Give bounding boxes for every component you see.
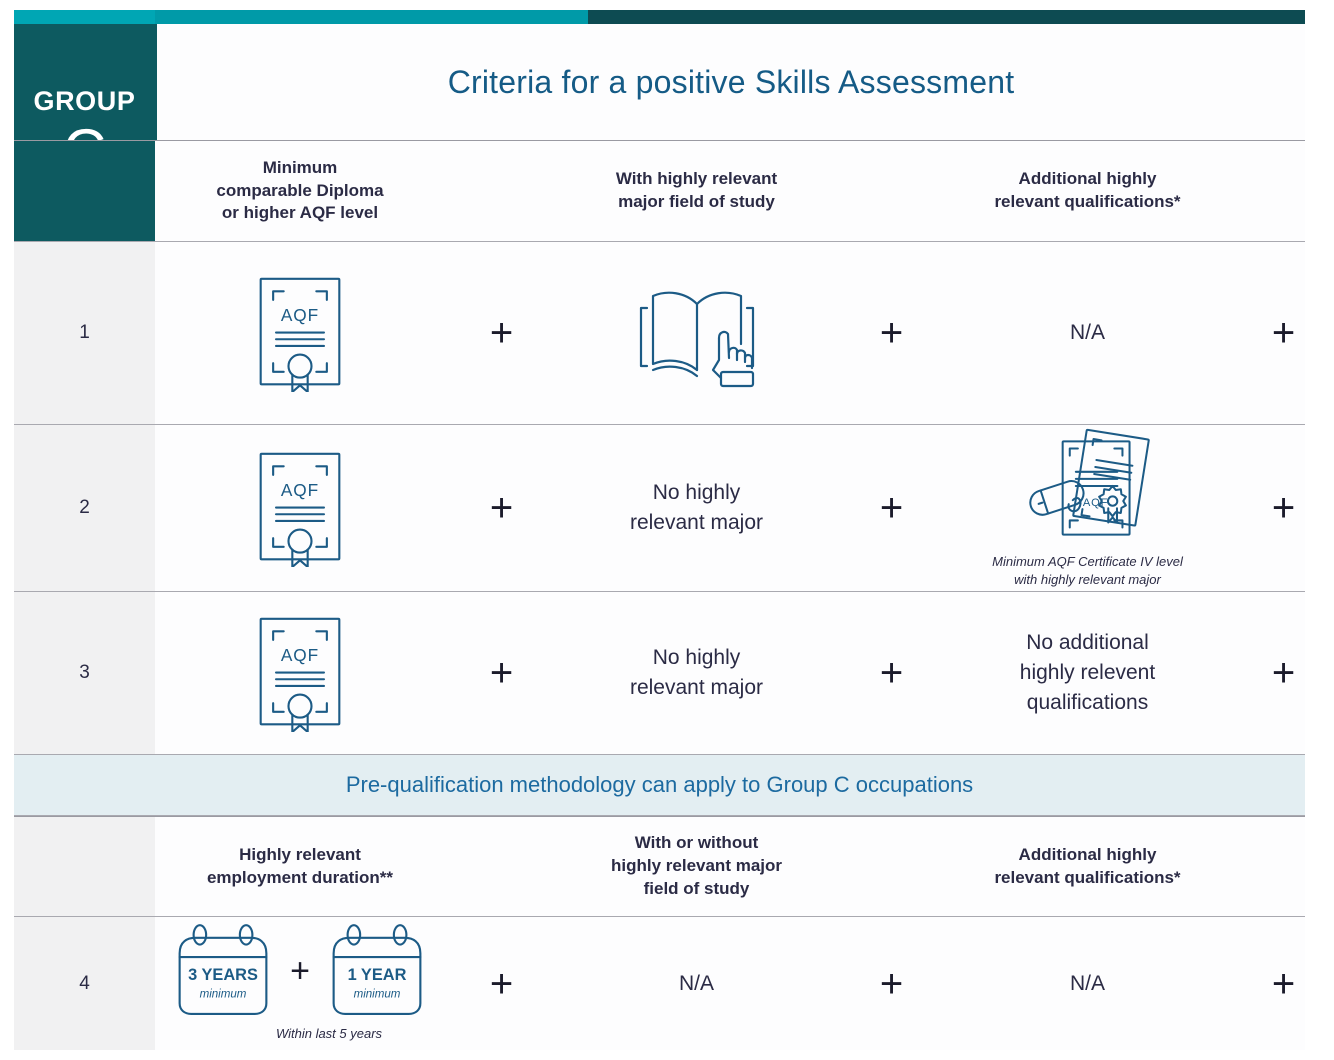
cell-min-diploma: AQF: [155, 242, 445, 424]
aqf-certificate-icon: AQF: [252, 450, 348, 567]
col-header2-additional-quals: Additional highlyrelevant qualifications…: [948, 844, 1227, 890]
prequalification-banner-row: Pre-qualification methodology can apply …: [14, 754, 1305, 816]
calendar-icon: 3 YEARS minimum: [170, 924, 276, 1019]
plus-icon: +: [1227, 425, 1334, 591]
cell-major-field: No highlyrelevant major: [558, 425, 835, 591]
table-row: 2 AQF + No highlyrelevant major +: [14, 424, 1305, 591]
svg-text:1 YEAR: 1 YEAR: [347, 966, 406, 984]
plus-icon: +: [445, 917, 558, 1050]
plus-icon: +: [835, 917, 948, 1050]
table-row: 1 AQF + + N/A +: [14, 241, 1305, 424]
plus-icon: +: [1227, 592, 1334, 754]
row-number: 1: [14, 242, 155, 424]
page-title-area: Criteria for a positive Skills Assessmen…: [155, 24, 1305, 140]
header-row-top: Minimumcomparable Diplomaor higher AQF l…: [14, 140, 1305, 241]
top-accent-bar: [14, 10, 1305, 24]
plus-icon-inner: +: [276, 952, 324, 991]
table-row: 3 AQF + No highlyrelevant major + No add…: [14, 591, 1305, 754]
cell-additional-quals-caption: Minimum AQF Certificate IV levelwith hig…: [992, 553, 1183, 588]
cell-major-field-text: No highlyrelevant major: [630, 478, 763, 538]
cell-major-field-text: No highlyrelevant major: [630, 643, 763, 703]
plus-icon: +: [445, 592, 558, 754]
col-header-additional-quals: Additional highlyrelevant qualifications…: [948, 168, 1227, 214]
cell-min-diploma-caption: Within last 5 years: [276, 1025, 382, 1043]
plus-icon: +: [835, 425, 948, 591]
col-header-major-field: With highly relevantmajor field of study: [558, 168, 835, 214]
cell-major-field: [558, 242, 835, 424]
accent-segment-light: [14, 10, 155, 24]
cell-min-diploma: 3 YEARS minimum + 1 YEAR minimum Within …: [155, 917, 445, 1050]
col-header-min-diploma: Minimumcomparable Diplomaor higher AQF l…: [155, 157, 445, 225]
plus-icon: +: [835, 242, 948, 424]
svg-text:AQF: AQF: [281, 480, 319, 500]
header-row-top-spacer: [14, 141, 155, 241]
plus-icon: +: [1227, 917, 1334, 1050]
row-number: 2: [14, 425, 155, 591]
plus-icon: +: [445, 242, 558, 424]
svg-text:minimum: minimum: [200, 989, 247, 1001]
accent-segment-dark: [588, 10, 1305, 24]
cell-major-field: N/A: [558, 917, 835, 1050]
group-label: GROUP: [33, 88, 135, 115]
plus-icon: +: [445, 425, 558, 591]
accent-segment-mid: [155, 10, 588, 24]
svg-text:minimum: minimum: [354, 989, 401, 1001]
header-row-bottom-spacer: [14, 817, 155, 916]
cell-major-field: No highlyrelevant major: [558, 592, 835, 754]
table-row: 4 3 YEARS minimum + 1 YEAR minimum Withi…: [14, 916, 1305, 1050]
cell-additional-quals: AQF Minimum AQF Certificate IV levelwith…: [948, 425, 1227, 591]
stacked-certificates-icon: AQF: [1012, 427, 1164, 547]
aqf-certificate-icon: AQF: [252, 275, 348, 392]
cell-additional-quals: No additionalhighly releventqualificatio…: [948, 592, 1227, 754]
prequalification-banner: Pre-qualification methodology can apply …: [14, 754, 1305, 816]
prequalification-banner-text: Pre-qualification methodology can apply …: [346, 772, 973, 798]
cell-additional-quals: N/A: [948, 917, 1227, 1050]
header-row-bottom: Highly relevantemployment duration** Wit…: [14, 816, 1305, 916]
cell-min-diploma: AQF: [155, 425, 445, 591]
cell-additional-quals-text: N/A: [1070, 969, 1105, 999]
row-number: 3: [14, 592, 155, 754]
cell-min-diploma: AQF: [155, 592, 445, 754]
cell-major-field-text: N/A: [679, 969, 714, 999]
col-header2-major-field: With or withouthighly relevant majorfiel…: [558, 832, 835, 900]
svg-text:3 YEARS: 3 YEARS: [188, 966, 258, 984]
book-hand-icon: [635, 278, 759, 388]
criteria-table: GROUP C Criteria for a positive Skills A…: [14, 24, 1305, 1050]
page-title: Criteria for a positive Skills Assessmen…: [448, 64, 1015, 101]
svg-text:AQF: AQF: [281, 645, 319, 665]
col-header2-employment-duration: Highly relevantemployment duration**: [155, 844, 445, 890]
plus-icon: +: [835, 592, 948, 754]
plus-icon: +: [1227, 242, 1334, 424]
aqf-certificate-icon: AQF: [252, 615, 348, 732]
cell-additional-quals-text: N/A: [1070, 318, 1105, 348]
cell-additional-quals-text: No additionalhighly releventqualificatio…: [1020, 628, 1155, 717]
svg-text:AQF: AQF: [281, 305, 319, 325]
cell-additional-quals: N/A: [948, 242, 1227, 424]
calendar-icon: 1 YEAR minimum: [324, 924, 430, 1019]
row-number: 4: [14, 917, 155, 1050]
